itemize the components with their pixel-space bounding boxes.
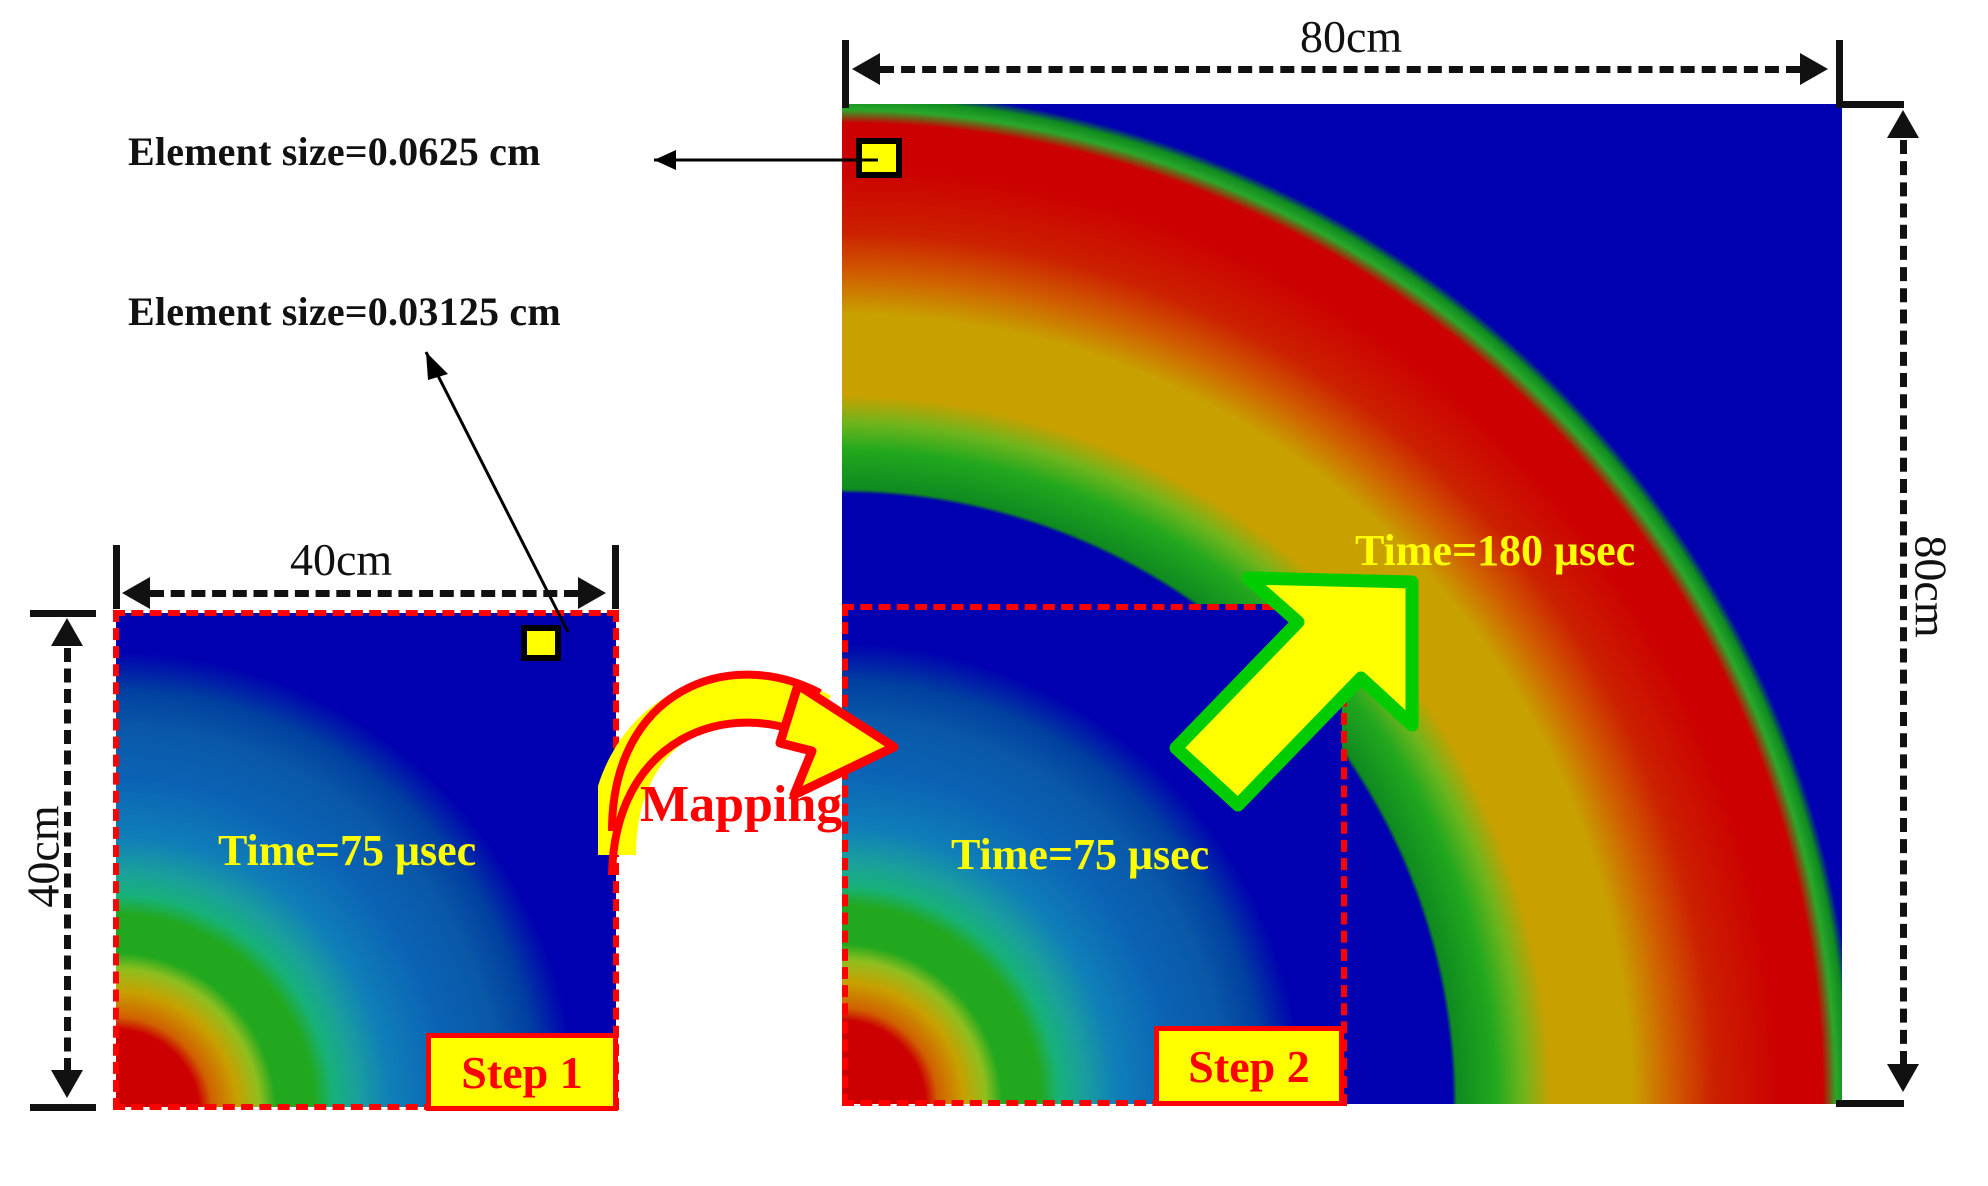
- dim-tick-big-left: [842, 40, 849, 108]
- step-1-badge: Step 1: [426, 1033, 618, 1111]
- dim-tick-small-right: [612, 545, 619, 609]
- dim-label-small-height: 40cm: [17, 805, 70, 907]
- mapping-label: Mapping: [640, 775, 842, 834]
- dim-arrowhead-big-top: [1887, 110, 1919, 138]
- dim-arrowhead-big-right: [1800, 53, 1828, 85]
- dim-arrowhead-big-left: [852, 53, 880, 85]
- time-label-75-step1: Time=75 μsec: [218, 825, 476, 876]
- dim-arrowhead-small-left: [122, 577, 150, 609]
- dim-arrowhead-small-right: [578, 577, 606, 609]
- dim-tick-small-top: [30, 610, 96, 617]
- leader-line-coarse: [620, 130, 880, 170]
- dim-tick-small-bottom: [30, 1104, 96, 1111]
- time-label-75-step2: Time=75 μsec: [951, 829, 1209, 880]
- dim-arrowhead-small-bottom: [51, 1070, 83, 1098]
- dim-line-small-width: [150, 590, 578, 597]
- callout-fine-element-size: Element size=0.03125 cm: [128, 288, 561, 335]
- dim-arrowhead-big-bottom: [1887, 1064, 1919, 1092]
- mapping-arrow: [598, 655, 908, 875]
- dim-line-big-width: [880, 66, 1800, 73]
- dim-tick-big-top: [1836, 101, 1904, 108]
- time-advance-arrow: [1148, 560, 1448, 830]
- dim-tick-small-left: [113, 545, 120, 609]
- step-2-badge: Step 2: [1154, 1026, 1344, 1106]
- dim-label-big-height: 80cm: [1905, 535, 1958, 637]
- dim-tick-big-right: [1836, 40, 1843, 108]
- dim-label-small-width: 40cm: [290, 533, 392, 586]
- dim-label-big-width: 80cm: [1300, 10, 1402, 63]
- dim-tick-big-bottom: [1836, 1100, 1904, 1107]
- dim-arrowhead-small-top: [51, 618, 83, 646]
- callout-coarse-element-size: Element size=0.0625 cm: [128, 128, 541, 175]
